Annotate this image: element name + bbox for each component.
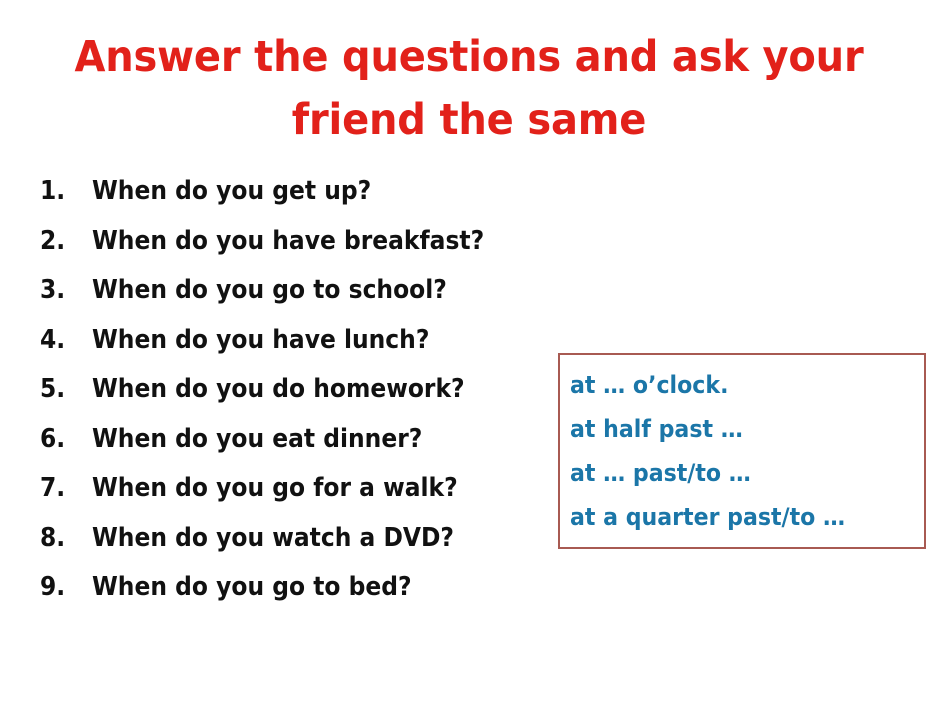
question-number: 5. xyxy=(40,365,87,415)
question-item-5: 5.When do you do homework? xyxy=(40,365,560,415)
question-text: When do you have breakfast? xyxy=(92,217,484,267)
phrase-line-3: at … past/to … xyxy=(570,451,896,495)
question-text: When do you watch a DVD? xyxy=(92,514,454,564)
question-number: 9. xyxy=(40,563,87,613)
question-number: 2. xyxy=(40,217,87,267)
question-text: When do you have lunch? xyxy=(92,316,429,366)
page-title-line-1: Answer the questions and ask your xyxy=(33,26,905,89)
question-item-2: 2.When do you have breakfast? xyxy=(40,217,560,267)
question-item-4: 4.When do you have lunch? xyxy=(40,316,560,366)
question-number: 6. xyxy=(40,415,87,465)
answer-phrases-box: at … o’clock. at half past … at … past/t… xyxy=(558,353,926,549)
question-number: 7. xyxy=(40,464,87,514)
question-item-7: 7.When do you go for a walk? xyxy=(40,464,560,514)
phrase-line-2: at half past … xyxy=(570,407,896,451)
question-number: 1. xyxy=(40,167,87,217)
question-item-3: 3.When do you go to school? xyxy=(40,266,560,316)
page-title-line-2: friend the same xyxy=(33,89,905,152)
page-title: Answer the questions and ask your friend… xyxy=(33,26,905,152)
question-text: When do you go to school? xyxy=(92,266,447,316)
question-text: When do you do homework? xyxy=(92,365,465,415)
question-item-9: 9.When do you go to bed? xyxy=(40,563,560,613)
question-number: 3. xyxy=(40,266,87,316)
question-list: 1.When do you get up? 2.When do you have… xyxy=(40,167,560,613)
question-number: 8. xyxy=(40,514,87,564)
question-item-6: 6.When do you eat dinner? xyxy=(40,415,560,465)
question-item-8: 8.When do you watch a DVD? xyxy=(40,514,560,564)
phrase-line-4: at a quarter past/to … xyxy=(570,495,896,539)
question-item-1: 1.When do you get up? xyxy=(40,167,560,217)
question-text: When do you go to bed? xyxy=(92,563,412,613)
question-text: When do you get up? xyxy=(92,167,371,217)
phrase-line-1: at … o’clock. xyxy=(570,363,896,407)
question-text: When do you eat dinner? xyxy=(92,415,422,465)
slide-canvas: Answer the questions and ask your friend… xyxy=(0,0,938,720)
question-number: 4. xyxy=(40,316,87,366)
question-text: When do you go for a walk? xyxy=(92,464,458,514)
